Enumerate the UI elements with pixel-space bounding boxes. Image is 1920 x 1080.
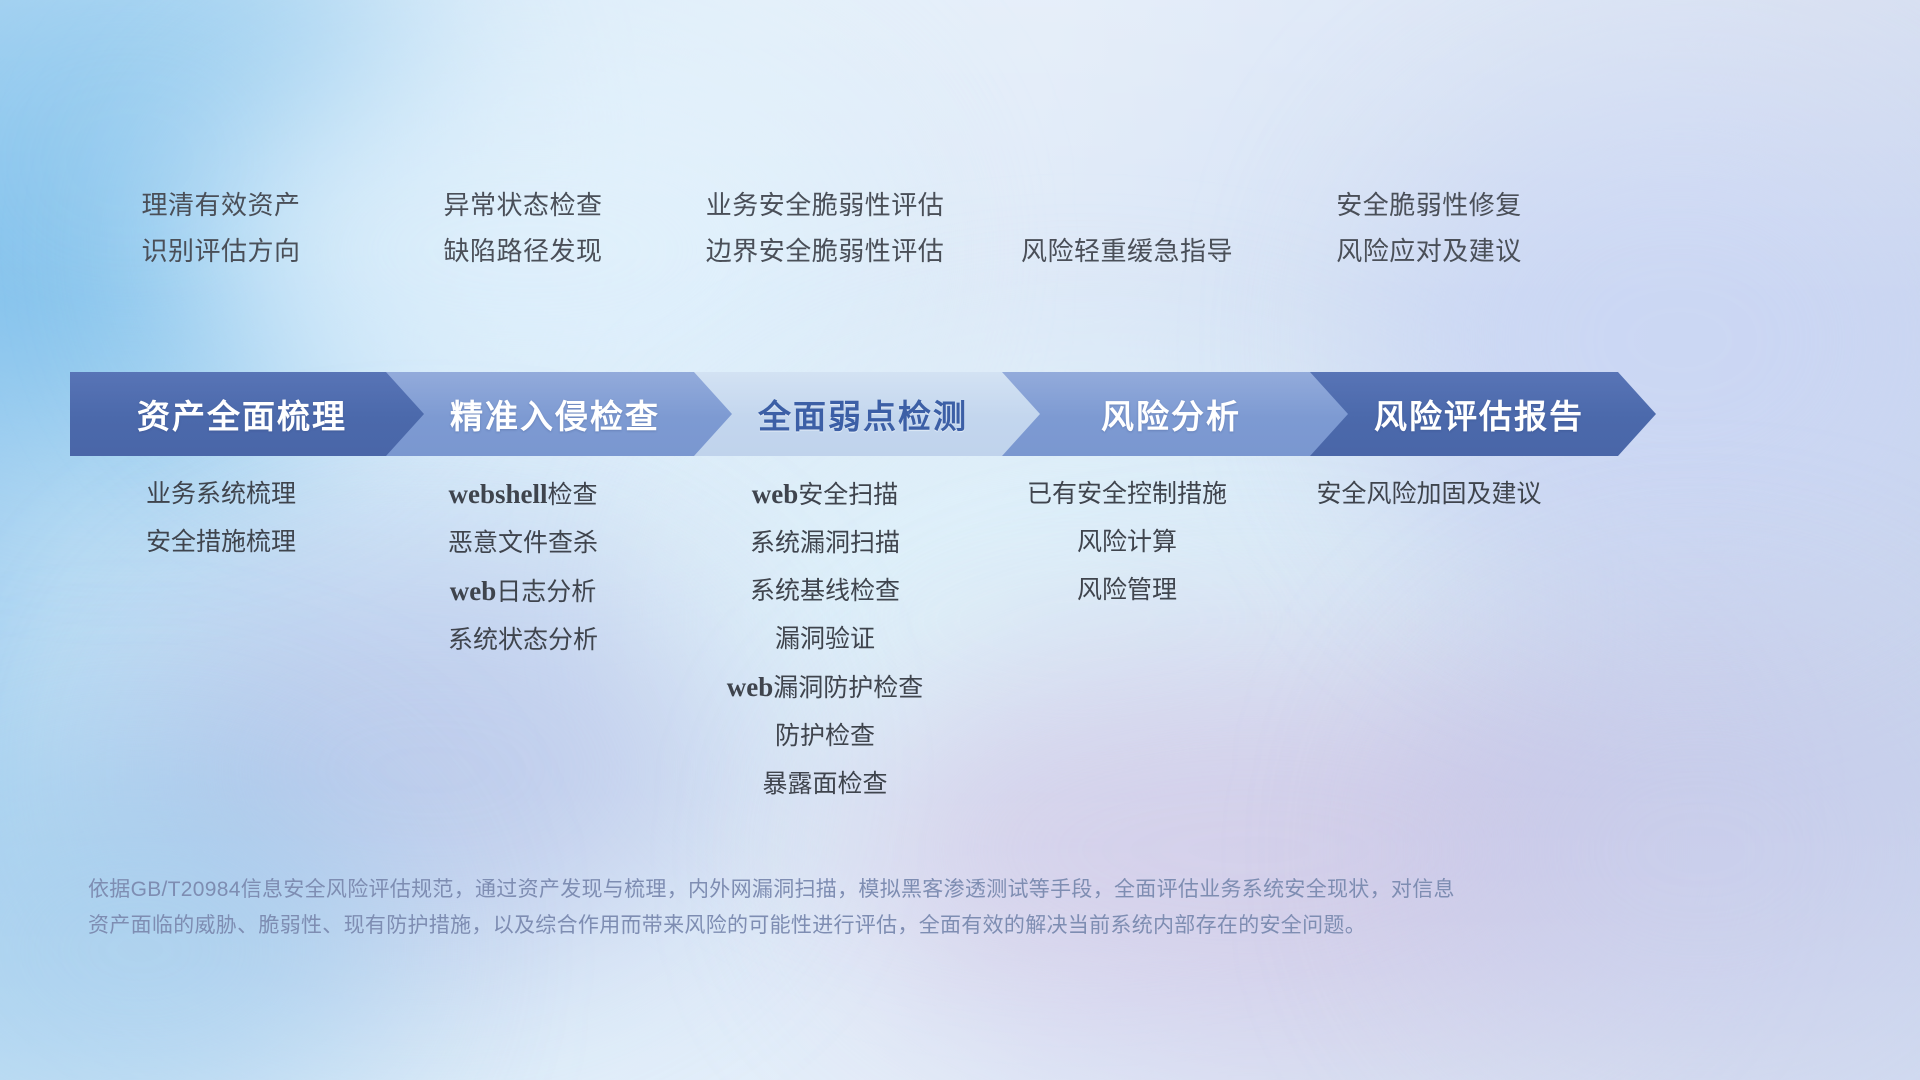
bottom-note-item: 系统基线检查 [674,567,976,615]
top-notes-weakness-detection: 业务安全脆弱性评估边界安全脆弱性评估 [674,182,976,274]
bottom-note-item: 防护检查 [674,712,976,760]
footer-line-1: 依据GB/T20984信息安全风险评估规范，通过资产发现与梳理，内外网漏洞扫描，… [88,872,1608,908]
stage-arrow-band: 资产全面梳理精准入侵检查全面弱点检测风险分析风险评估报告 [70,372,1860,456]
top-note-item: 业务安全脆弱性评估 [674,182,976,228]
top-note-item: 风险轻重缓急指导 [976,228,1278,274]
stage-arrow-assessment-report[interactable]: 风险评估报告 [1302,372,1656,456]
top-notes-assessment-report: 安全脆弱性修复风险应对及建议 [1278,182,1580,274]
bottom-note-item: webshell检查 [372,470,674,519]
bottom-note-text: 安全扫描 [798,481,898,509]
bottom-note-item: 系统状态分析 [372,616,674,664]
top-note-item: 理清有效资产 [70,182,372,228]
bottom-notes-row: 业务系统梳理安全措施梳理webshell检查恶意文件查杀web日志分析系统状态分… [70,470,1850,808]
top-note-item: 异常状态检查 [372,182,674,228]
bottom-note-item: web安全扫描 [674,470,976,519]
top-note-item: 识别评估方向 [70,228,372,274]
stage-arrow-weakness-detection[interactable]: 全面弱点检测 [686,372,1040,456]
bottom-note-item: 暴露面检查 [674,760,976,808]
bottom-note-item: 系统漏洞扫描 [674,519,976,567]
bottom-note-text: 检查 [548,481,598,509]
stage-arrow-label: 风险分析 [1101,390,1241,438]
bottom-note-latin: web [752,479,799,509]
stage-arrow-label: 全面弱点检测 [758,390,968,438]
top-note-item: 缺陷路径发现 [372,228,674,274]
bottom-note-item: 风险计算 [976,518,1278,566]
bottom-note-item: web漏洞防护检查 [674,663,976,712]
bottom-note-item: 恶意文件查杀 [372,519,674,567]
top-note-item: 边界安全脆弱性评估 [674,228,976,274]
bottom-note-item: 风险管理 [976,566,1278,614]
top-note-item: 安全脆弱性修复 [1278,182,1580,228]
bottom-notes-weakness-detection: web安全扫描系统漏洞扫描系统基线检查漏洞验证web漏洞防护检查防护检查暴露面检… [674,470,976,808]
bottom-notes-intrusion-check: webshell检查恶意文件查杀web日志分析系统状态分析 [372,470,674,664]
bottom-note-latin: web [450,576,497,606]
top-note-spacer [976,182,1278,228]
bottom-note-item: 业务系统梳理 [70,470,372,518]
bottom-note-text: 漏洞防护检查 [773,674,923,702]
footer-description: 依据GB/T20984信息安全风险评估规范，通过资产发现与梳理，内外网漏洞扫描，… [88,872,1608,944]
bottom-note-latin: web [727,672,774,702]
bottom-note-latin: webshell [448,479,547,509]
bottom-note-item: 已有安全控制措施 [976,470,1278,518]
bottom-notes-risk-analysis: 已有安全控制措施风险计算风险管理 [976,470,1278,614]
bottom-note-item: web日志分析 [372,567,674,616]
footer-line-2: 资产面临的威胁、脆弱性、现有防护措施，以及综合作用而带来风险的可能性进行评估，全… [88,908,1608,944]
top-notes-asset-inventory: 理清有效资产识别评估方向 [70,182,372,274]
bottom-note-item: 安全风险加固及建议 [1278,470,1580,518]
stage-arrow-intrusion-check[interactable]: 精准入侵检查 [378,372,732,456]
stage-arrow-asset-inventory[interactable]: 资产全面梳理 [70,372,424,456]
stage-arrow-label: 精准入侵检查 [450,390,660,438]
process-diagram: 理清有效资产识别评估方向异常状态检查缺陷路径发现业务安全脆弱性评估边界安全脆弱性… [0,0,1920,1080]
top-notes-intrusion-check: 异常状态检查缺陷路径发现 [372,182,674,274]
top-note-item: 风险应对及建议 [1278,228,1580,274]
stage-arrow-risk-analysis[interactable]: 风险分析 [994,372,1348,456]
bottom-note-item: 安全措施梳理 [70,518,372,566]
bottom-note-item: 漏洞验证 [674,615,976,663]
bottom-notes-asset-inventory: 业务系统梳理安全措施梳理 [70,470,372,566]
bottom-notes-assessment-report: 安全风险加固及建议 [1278,470,1580,518]
stage-arrow-label: 资产全面梳理 [137,390,347,438]
top-notes-row: 理清有效资产识别评估方向异常状态检查缺陷路径发现业务安全脆弱性评估边界安全脆弱性… [70,182,1850,274]
stage-arrow-label: 风险评估报告 [1374,390,1584,438]
bottom-note-text: 日志分析 [496,578,596,606]
top-notes-risk-analysis: 风险轻重缓急指导 [976,182,1278,274]
